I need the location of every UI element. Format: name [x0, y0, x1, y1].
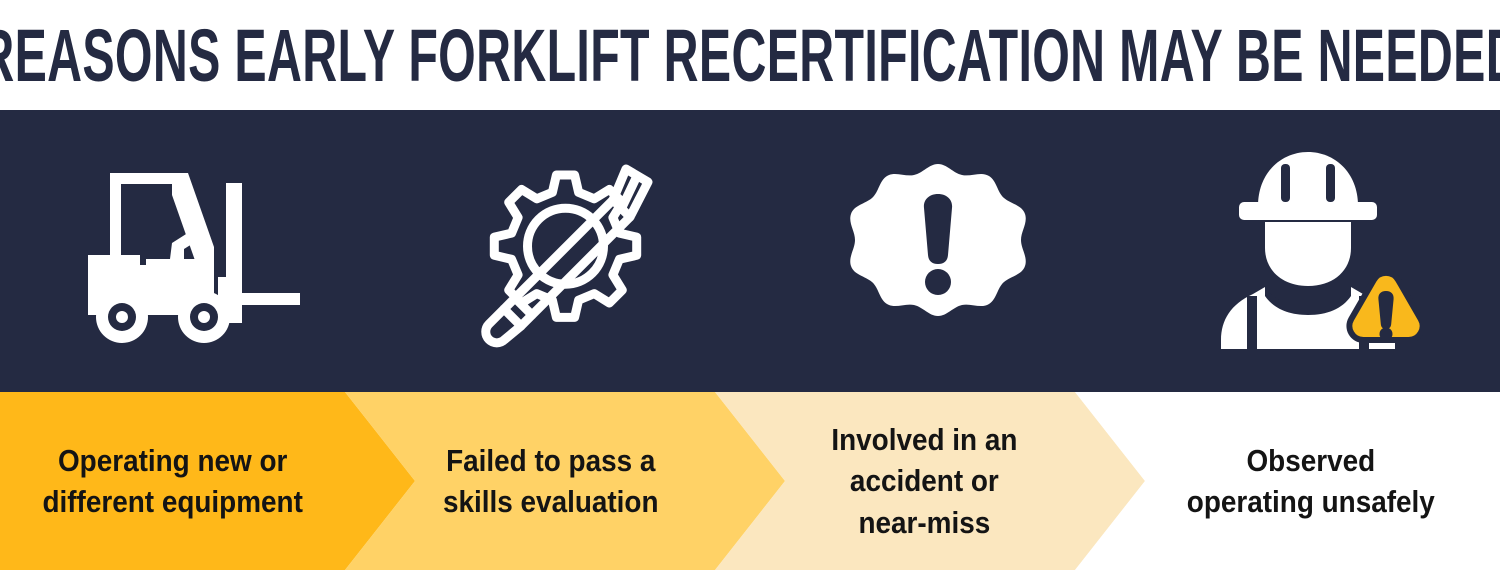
title-band: Reasons Early Forklift Recertification M… [0, 0, 1500, 110]
icon-cell-3 [750, 110, 1125, 392]
icon-cell-1 [0, 110, 375, 392]
infographic-root: Reasons Early Forklift Recertification M… [0, 0, 1500, 570]
icon-band [0, 110, 1500, 392]
step-label-4: Observed operating unsafely [1181, 440, 1440, 522]
icon-cell-2 [375, 110, 750, 392]
icon-cell-4 [1125, 110, 1500, 392]
forklift-icon [76, 151, 300, 351]
gear-pencil-icon [463, 151, 663, 351]
page-title: Reasons Early Forklift Recertification M… [0, 18, 1500, 93]
worker-warning-icon [1203, 144, 1423, 359]
exclamation-badge-icon [843, 156, 1033, 346]
step-label-1: Operating new or different equipment [37, 440, 308, 522]
icon-row [0, 110, 1500, 392]
step-label-3: Involved in an accident or near-miss [826, 419, 1023, 543]
chevron-band: Operating new or different equipment Fai… [0, 392, 1500, 570]
step-chevron-1[interactable]: Operating new or different equipment [0, 392, 415, 570]
step-label-2: Failed to pass a skills evaluation [438, 440, 664, 522]
